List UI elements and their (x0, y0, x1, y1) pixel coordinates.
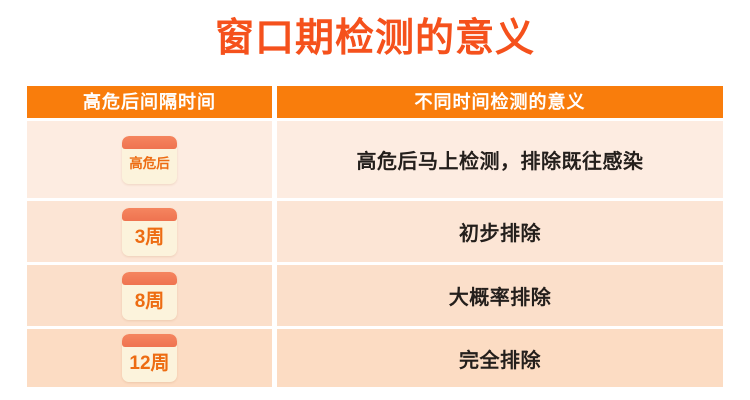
interval-cell: 8周 (27, 265, 272, 326)
table-header-row: 高危后间隔时间 不同时间检测的意义 (27, 86, 723, 118)
calendar-badge-top (122, 272, 177, 285)
calendar-badge-icon: 8周 (122, 272, 177, 320)
calendar-badge-icon: 12周 (122, 334, 177, 382)
calendar-badge-label: 3周 (122, 227, 177, 256)
calendar-badge-label: 8周 (122, 291, 177, 320)
table-row: 12周 完全排除 (27, 329, 723, 387)
calendar-badge-top (122, 208, 177, 221)
page-title: 窗口期检测的意义 (0, 14, 750, 64)
calendar-badge-icon: 3周 (122, 208, 177, 256)
poster-root: 窗口期检测的意义 高危后间隔时间 不同时间检测的意义 高危后 高危后马上检测，排… (0, 0, 750, 400)
table-row: 3周 初步排除 (27, 201, 723, 262)
table-row: 8周 大概率排除 (27, 265, 723, 326)
calendar-badge-label: 12周 (122, 353, 177, 382)
interval-cell: 3周 (27, 201, 272, 262)
calendar-badge-label: 高危后 (122, 153, 177, 184)
meaning-text: 高危后马上检测，排除既往感染 (357, 145, 644, 174)
meaning-text: 初步排除 (459, 217, 541, 246)
meaning-cell: 完全排除 (277, 329, 723, 387)
calendar-badge-top (122, 334, 177, 347)
window-period-table: 高危后间隔时间 不同时间检测的意义 高危后 高危后马上检测，排除既往感染 (27, 86, 723, 387)
column-header-interval: 高危后间隔时间 (27, 86, 272, 118)
meaning-cell: 高危后马上检测，排除既往感染 (277, 121, 723, 198)
meaning-text: 大概率排除 (449, 281, 552, 310)
calendar-badge-icon: 高危后 (122, 136, 177, 184)
meaning-cell: 初步排除 (277, 201, 723, 262)
meaning-cell: 大概率排除 (277, 265, 723, 326)
interval-cell: 12周 (27, 329, 272, 387)
calendar-badge-top (122, 136, 177, 149)
meaning-text: 完全排除 (459, 344, 541, 373)
column-header-meaning: 不同时间检测的意义 (277, 86, 723, 118)
table-row: 高危后 高危后马上检测，排除既往感染 (27, 121, 723, 198)
interval-cell: 高危后 (27, 121, 272, 198)
